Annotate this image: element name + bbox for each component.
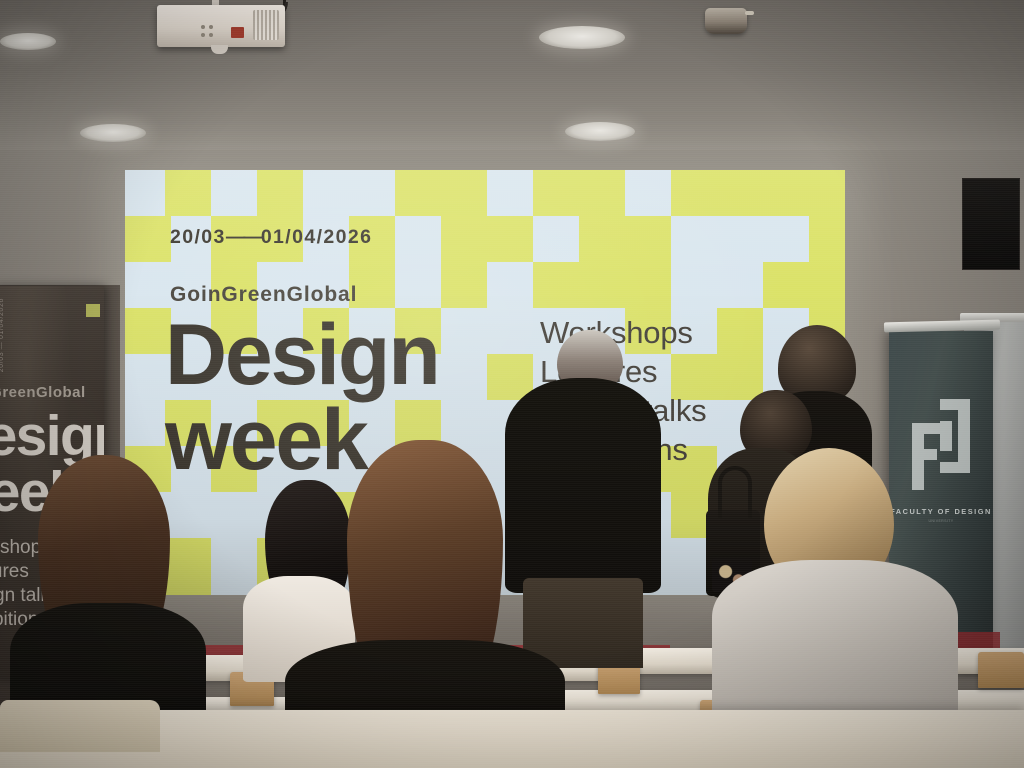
slide-date-dash: ——: [226, 226, 261, 248]
wooden-chair: [978, 652, 1024, 688]
slide-brand: GoinGreenGlobal: [170, 283, 357, 307]
projector-vent: [253, 10, 279, 40]
ceiling-speaker: [705, 8, 747, 34]
projector-lamp-indicator: [231, 27, 244, 38]
slide-date-start: 20/03: [170, 226, 226, 248]
banner-rail: [884, 320, 1000, 333]
foreground-bag: [0, 700, 160, 752]
wall-speaker: [962, 178, 1020, 270]
slide-heading-line-1: Design: [165, 313, 439, 398]
recessed-downlight: [0, 33, 56, 50]
ceiling-mounted-projector: [157, 5, 285, 47]
recessed-downlight: [539, 26, 625, 49]
poster-brand: GoinGreenGlobal: [0, 384, 86, 401]
lecture-hall-scene: 20/03——01/04/2026 GoinGreenGlobal Design…: [0, 0, 1024, 768]
poster-accent-block: [86, 304, 100, 317]
slide-date-range: 20/03——01/04/2026: [170, 226, 372, 249]
poster-date-range: 20/03 — 01/04/2026: [0, 298, 5, 372]
slide-date-end: 01/04/2026: [261, 226, 373, 248]
recessed-downlight: [80, 124, 146, 142]
recessed-downlight: [565, 122, 635, 141]
